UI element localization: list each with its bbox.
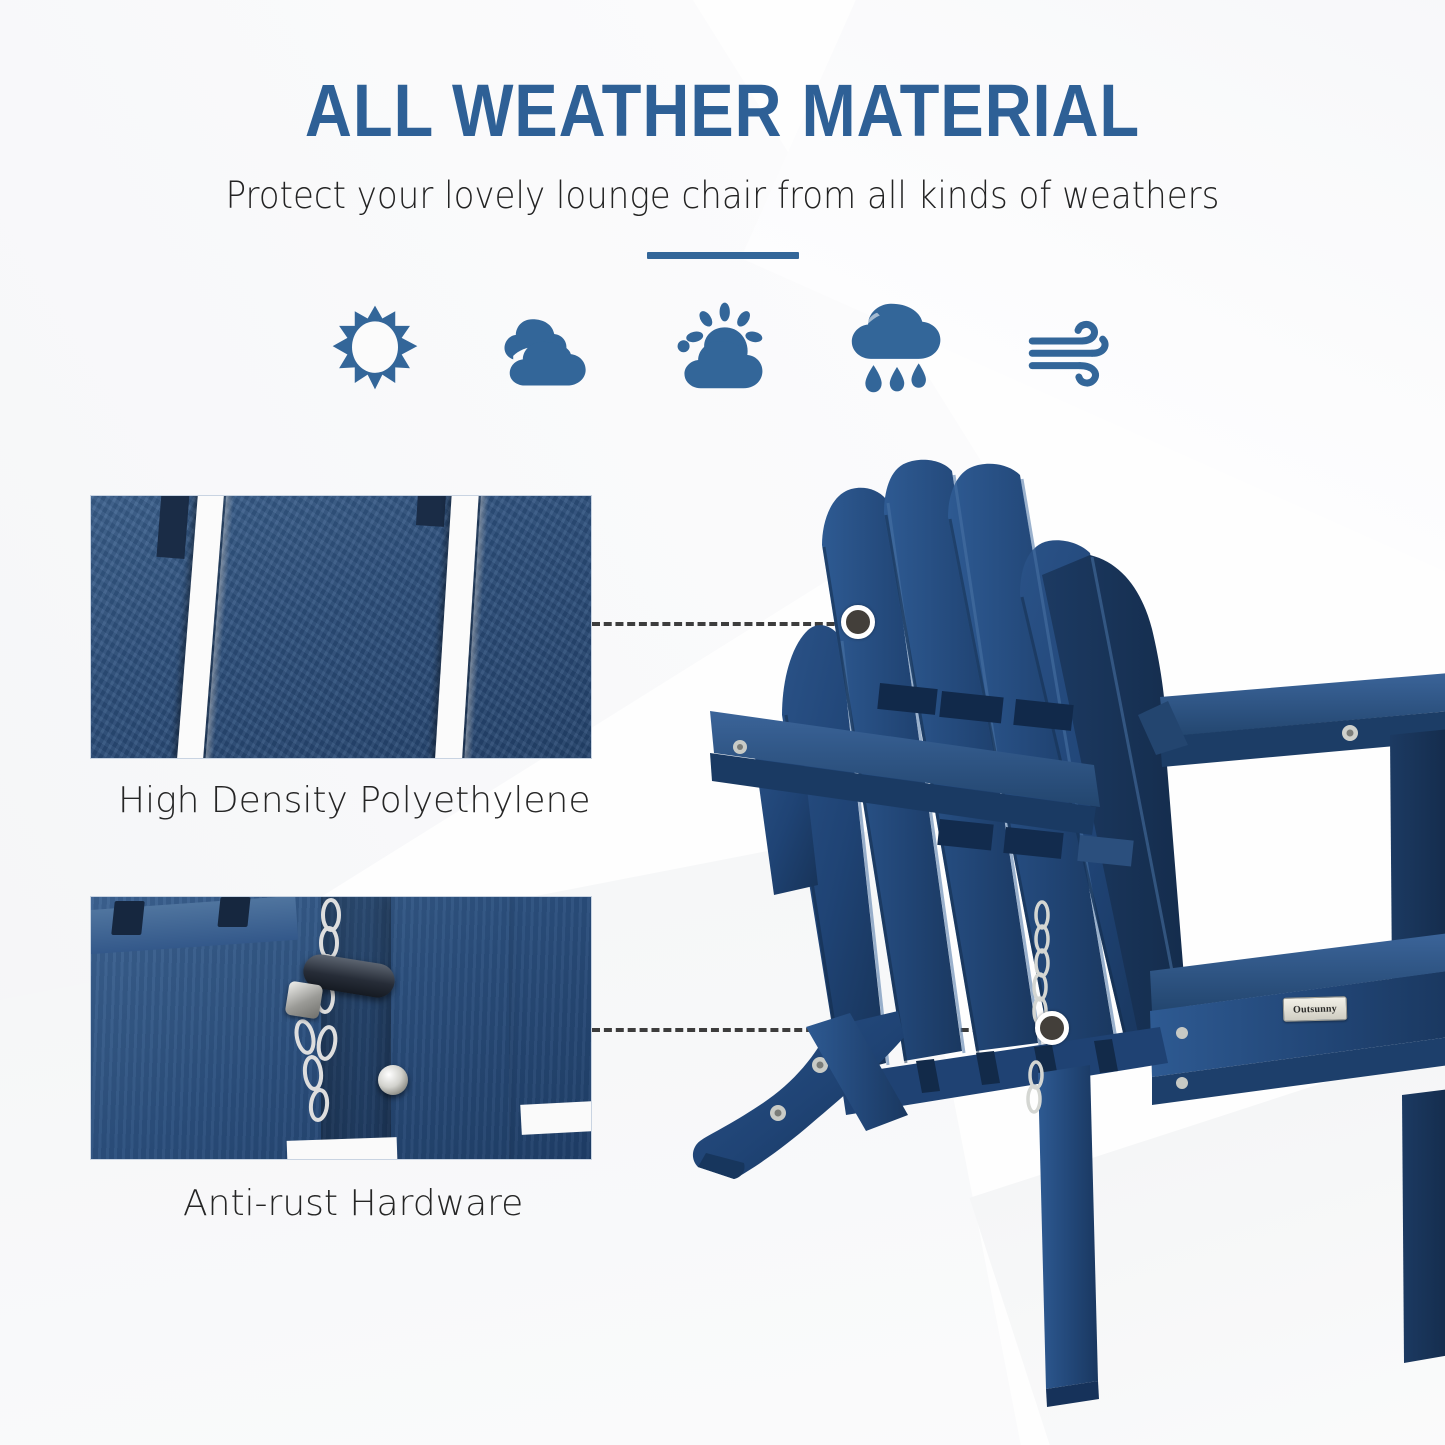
callout-dot-hardware: [1035, 1011, 1069, 1045]
chair-rear-leg: [1402, 1089, 1445, 1363]
title-divider: [647, 252, 799, 259]
page-title: ALL WEATHER MATERIAL: [87, 0, 1359, 150]
rain-cloud-icon: [849, 300, 945, 396]
weather-icon-row: [0, 300, 1445, 396]
header-block: ALL WEATHER MATERIAL Protect your lovely…: [0, 0, 1445, 259]
product-image-adirondack-chair: [690, 415, 1445, 1415]
partly-sunny-icon: [675, 300, 771, 396]
hardware-closeup-photo: [90, 896, 592, 1160]
callout-dot-hdpe: [841, 605, 875, 639]
hardware-nut: [285, 981, 324, 1020]
brand-badge: Outsunny: [1283, 996, 1348, 1022]
hdpe-shadow-notch: [416, 495, 446, 527]
hdpe-closeup-photo: [90, 495, 592, 759]
feature-caption-hdpe: High Density Polyethylene: [118, 780, 591, 821]
hdpe-shadow-notch: [156, 495, 189, 559]
feature-caption-hardware: Anti-rust Hardware: [183, 1183, 523, 1224]
sun-icon: [327, 300, 423, 396]
brand-name: Outsunny: [1293, 1003, 1337, 1015]
cloudy-icon: [501, 300, 597, 396]
hardware-screw: [378, 1065, 408, 1095]
promo-banner: ALL WEATHER MATERIAL Protect your lovely…: [0, 0, 1445, 1445]
page-subtitle: Protect your lovely lounge chair from al…: [58, 150, 1387, 218]
chair-front-leg: [1038, 1065, 1099, 1407]
hardware-chain-icon: [91, 897, 591, 1159]
wind-icon: [1023, 300, 1119, 396]
